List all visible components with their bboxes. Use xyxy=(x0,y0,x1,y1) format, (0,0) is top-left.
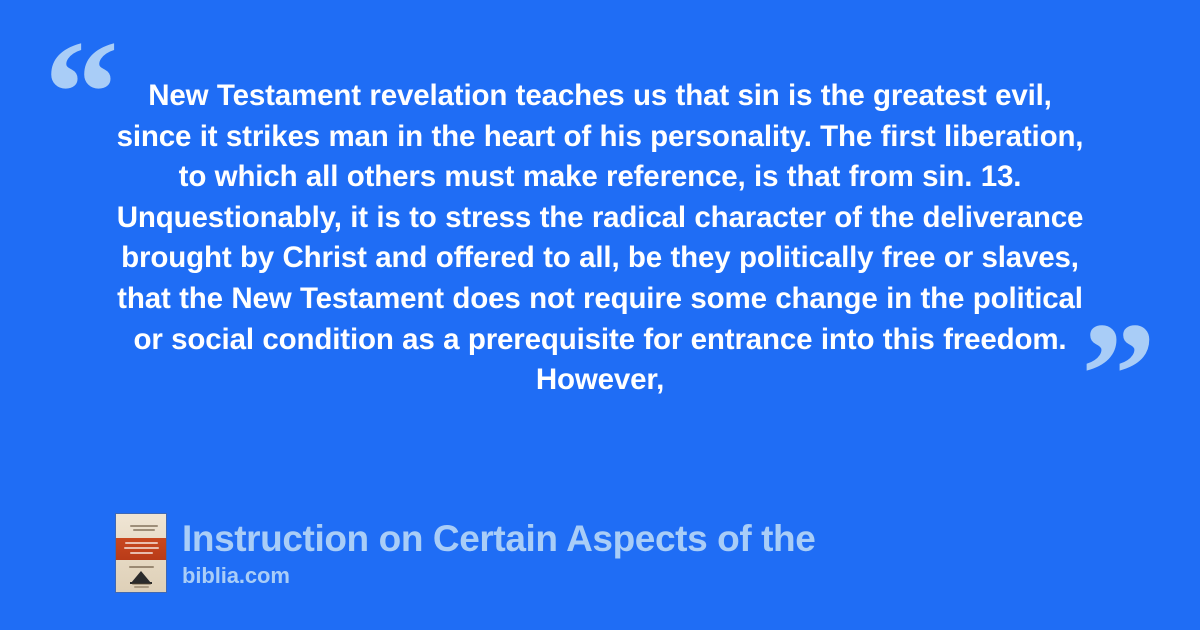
quote-text: New Testament revelation teaches us that… xyxy=(110,76,1090,401)
source-title[interactable]: Instruction on Certain Aspects of the xyxy=(182,517,815,561)
cover-title-line xyxy=(124,547,159,549)
cover-heading-line xyxy=(130,525,158,527)
book-cover-thumbnail-icon xyxy=(116,514,166,592)
attribution[interactable]: Instruction on Certain Aspects of the bi… xyxy=(116,514,815,592)
quote-block: New Testament revelation teaches us that… xyxy=(110,76,1090,401)
cover-publisher-line xyxy=(132,583,151,585)
quote-card: “ New Testament revelation teaches us th… xyxy=(0,0,1200,630)
cover-heading-line xyxy=(133,529,155,531)
cover-title-line xyxy=(130,552,153,554)
attribution-text: Instruction on Certain Aspects of the bi… xyxy=(182,517,815,589)
cover-publisher-line xyxy=(134,586,149,588)
source-site[interactable]: biblia.com xyxy=(182,563,815,589)
cover-title-line xyxy=(125,542,158,544)
opening-quote-icon: “ xyxy=(44,18,119,168)
cover-subtitle-line xyxy=(129,566,154,568)
closing-quote-icon: ” xyxy=(1081,300,1156,450)
